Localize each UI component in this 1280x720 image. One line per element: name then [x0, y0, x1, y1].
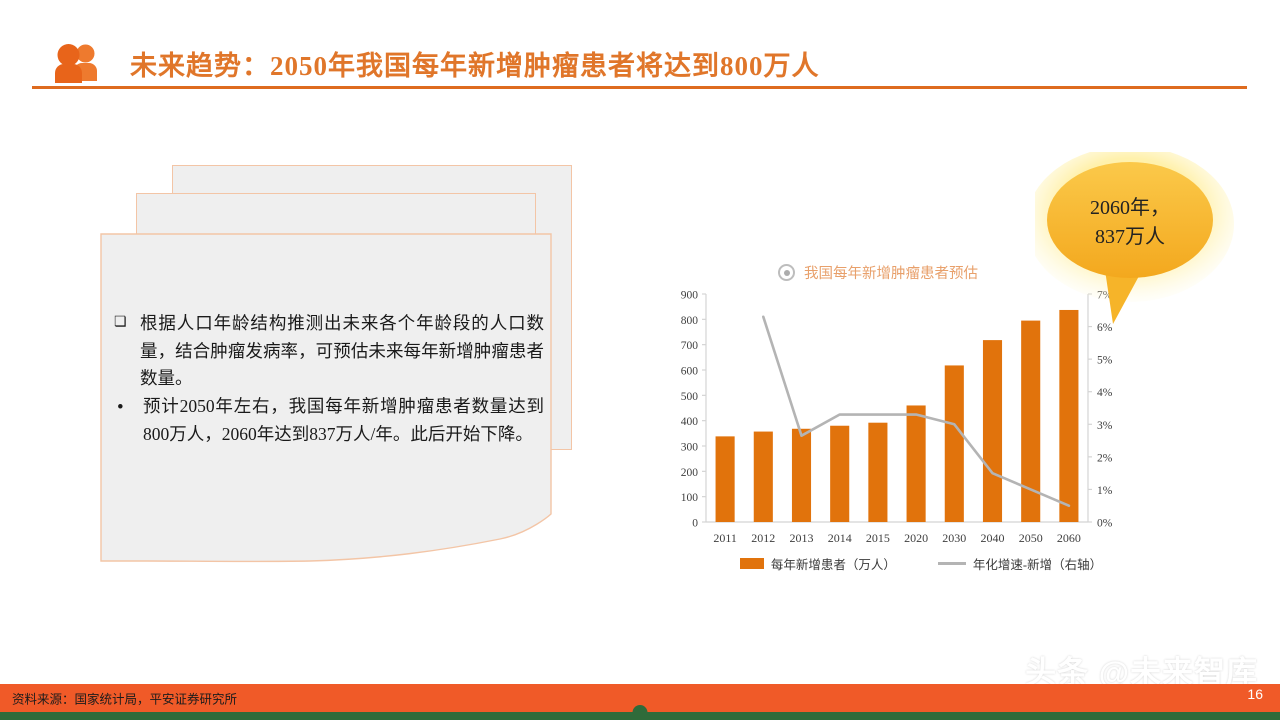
page-title: 未来趋势：2050年我国每年新增肿瘤患者将达到800万人	[130, 44, 820, 83]
legend-swatch-bar-icon	[740, 558, 764, 569]
svg-text:2050: 2050	[1019, 531, 1043, 545]
bullet-item: • 预计2050年左右，我国每年新增肿瘤患者数量达到800万人，2060年达到8…	[114, 393, 544, 448]
svg-text:700: 700	[681, 340, 699, 352]
legend-swatch-line-icon	[938, 562, 966, 565]
svg-text:1%: 1%	[1097, 485, 1113, 497]
bullet-text: 预计2050年左右，我国每年新增肿瘤患者数量达到800万人，2060年达到837…	[143, 393, 544, 448]
svg-text:2013: 2013	[790, 531, 814, 545]
callout-line-2: 837万人	[1035, 223, 1225, 252]
chart-heading: 我国每年新增肿瘤患者预估	[778, 262, 978, 283]
svg-text:0%: 0%	[1097, 518, 1113, 530]
source-note: 资料来源：国家统计局，平安证券研究所	[12, 689, 237, 708]
svg-text:2060: 2060	[1057, 531, 1081, 545]
svg-text:400: 400	[681, 416, 699, 428]
callout-line-1: 2060年，	[1035, 194, 1225, 223]
chart-title: 我国每年新增肿瘤患者预估	[804, 262, 978, 283]
footer-accent-strip	[0, 712, 1280, 720]
svg-text:500: 500	[681, 391, 699, 403]
svg-text:2014: 2014	[828, 531, 852, 545]
svg-text:800: 800	[681, 315, 699, 327]
legend-label: 每年新增患者（万人）	[771, 554, 896, 573]
people-group-icon	[54, 43, 100, 83]
dot-bullet-icon: •	[114, 393, 143, 423]
svg-text:2011: 2011	[713, 531, 737, 545]
svg-text:2015: 2015	[866, 531, 890, 545]
bullet-text: 根据人口年龄结构推测出未来各个年龄段的人口数量，结合肿瘤发病率，可预估未来每年新…	[140, 310, 544, 393]
slide-header: 未来趋势：2050年我国每年新增肿瘤患者将达到800万人	[0, 0, 1280, 100]
hollow-square-icon: ❏	[114, 310, 140, 334]
card-body-text: ❏ 根据人口年龄结构推测出未来各个年龄段的人口数量，结合肿瘤发病率，可预估未来每…	[114, 310, 544, 448]
svg-text:2020: 2020	[904, 531, 928, 545]
svg-text:200: 200	[681, 467, 699, 479]
legend-label: 年化增速-新增（右轴）	[973, 554, 1102, 573]
page-number: 16	[1247, 686, 1263, 702]
svg-text:300: 300	[681, 442, 699, 454]
footer-accent-dot	[633, 705, 648, 720]
card-layer-front: ❏ 根据人口年龄结构推测出未来各个年龄段的人口数量，结合肿瘤发病率，可预估未来每…	[100, 233, 552, 563]
svg-text:0: 0	[692, 518, 698, 530]
header-divider	[32, 86, 1247, 89]
callout-bubble: 2060年， 837万人	[1035, 152, 1245, 327]
target-circle-icon	[778, 264, 795, 281]
chart-legend: 每年新增患者（万人） 年化增速-新增（右轴）	[706, 554, 1136, 573]
bullet-item: ❏ 根据人口年龄结构推测出未来各个年龄段的人口数量，结合肿瘤发病率，可预估未来每…	[114, 310, 544, 393]
svg-text:5%: 5%	[1097, 355, 1113, 367]
svg-text:100: 100	[681, 492, 699, 504]
svg-text:4%: 4%	[1097, 387, 1113, 399]
svg-text:900: 900	[681, 290, 699, 302]
legend-entry-line: 年化增速-新增（右轴）	[938, 554, 1102, 573]
stacked-cards: ❏ 根据人口年龄结构推测出未来各个年龄段的人口数量，结合肿瘤发病率，可预估未来每…	[100, 165, 590, 565]
svg-text:3%: 3%	[1097, 420, 1113, 432]
legend-entry-bars: 每年新增患者（万人）	[740, 554, 896, 573]
svg-text:600: 600	[681, 366, 699, 378]
svg-text:2030: 2030	[942, 531, 966, 545]
svg-text:2012: 2012	[751, 531, 775, 545]
svg-text:2040: 2040	[981, 531, 1005, 545]
svg-text:2%: 2%	[1097, 452, 1113, 464]
callout-text: 2060年， 837万人	[1035, 194, 1225, 252]
